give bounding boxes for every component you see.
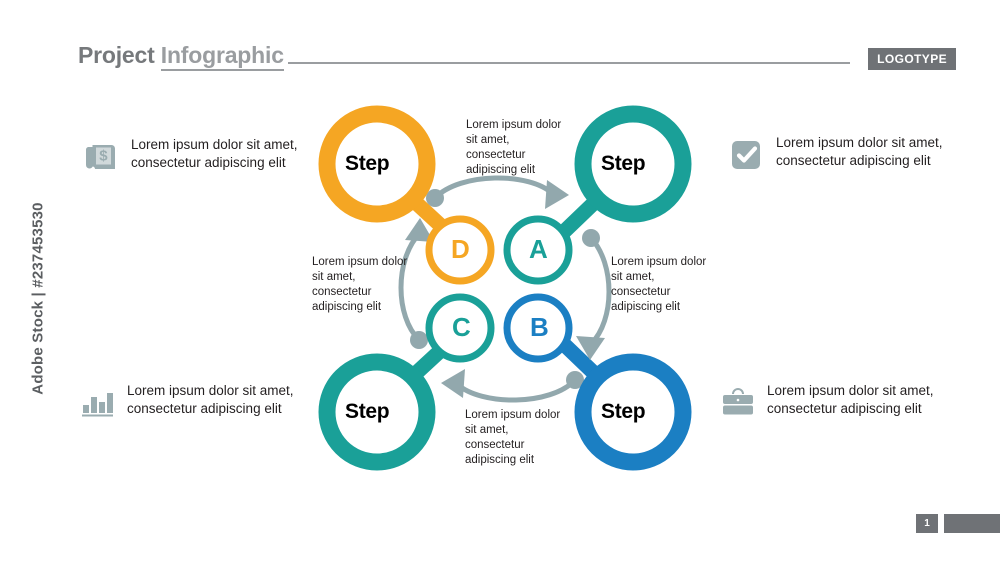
stock-watermark: Adobe Stock | #237453530 (30, 179, 47, 419)
step-label-bottom-right: Step (601, 400, 645, 424)
callout-right: Lorem ipsum dolor sit amet, consectetur … (611, 255, 711, 315)
slide-canvas: Project Infographic LOGOTYPE $ Lorem ips… (0, 0, 1000, 562)
callout-bottom: Lorem ipsum dolor sit amet, consectetur … (465, 408, 565, 468)
node-label-b: B (530, 312, 549, 343)
step-label-top-right: Step (601, 152, 645, 176)
cycle-diagram: Step Step Step Step D A C B Lorem ipsum … (295, 88, 715, 488)
logotype-badge: LOGOTYPE (868, 48, 956, 70)
feature-text: Lorem ipsum dolor sit amet, consectetur … (776, 134, 969, 169)
page-title-primary: Project (78, 42, 161, 68)
step-label-top-left: Step (345, 152, 389, 176)
svg-text:$: $ (99, 148, 108, 165)
page-number-badge: 1 (916, 514, 938, 533)
briefcase-icon (720, 384, 756, 420)
node-label-c: C (452, 312, 471, 343)
node-label-d: D (451, 234, 470, 265)
feature-block-bottom-left: Lorem ipsum dolor sit amet, consectetur … (80, 382, 320, 420)
feature-block-top-left: $ Lorem ipsum dolor sit amet, consectetu… (84, 136, 324, 174)
step-label-bottom-left: Step (345, 400, 389, 424)
page-title-emphasis: Infographic (161, 42, 284, 71)
footer-bar (944, 514, 1000, 533)
header-divider (288, 62, 850, 64)
feature-text: Lorem ipsum dolor sit amet, consectetur … (767, 382, 960, 417)
feature-block-top-right: Lorem ipsum dolor sit amet, consectetur … (729, 134, 969, 172)
page-title: Project Infographic (78, 42, 284, 69)
node-label-a: A (529, 234, 548, 265)
feature-block-bottom-right: Lorem ipsum dolor sit amet, consectetur … (720, 382, 960, 420)
callout-left: Lorem ipsum dolor sit amet, consectetur … (312, 255, 412, 315)
feature-text: Lorem ipsum dolor sit amet, consectetur … (127, 382, 320, 417)
money-scroll-icon: $ (84, 138, 120, 174)
check-square-icon (729, 136, 765, 172)
bar-chart-icon (80, 384, 116, 420)
callout-top: Lorem ipsum dolor sit amet, consectetur … (466, 118, 566, 178)
